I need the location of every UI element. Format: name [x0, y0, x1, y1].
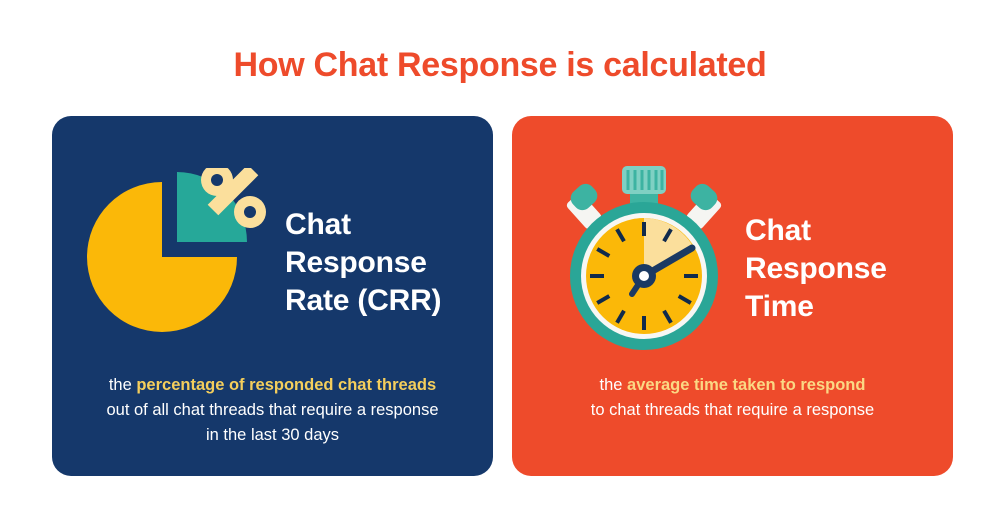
crr-caption-line-2: out of all chat threads that require a r…: [68, 398, 477, 423]
pie-chart-percent-icon-wrap: [74, 160, 274, 380]
pie-chart-percent-icon: [80, 168, 270, 348]
page-title: How Chat Response is calculated: [0, 46, 1000, 85]
crt-caption-line-2: to chat threads that require a response: [528, 398, 937, 423]
crr-heading: Chat Response Rate (CRR): [285, 206, 485, 320]
stopwatch-hub-dot: [639, 271, 649, 281]
infographic-canvas: How Chat Response is calculated: [0, 0, 1000, 530]
crr-caption: the percentage of responded chat threads…: [68, 373, 477, 448]
crt-caption: the average time taken to respond to cha…: [528, 373, 937, 423]
card-chat-response-rate: Chat Response Rate (CRR) the percentage …: [52, 116, 493, 476]
crt-caption-line-1: the average time taken to respond: [528, 373, 937, 398]
stopwatch-icon: [554, 160, 734, 355]
crt-caption-highlight: average time taken to respond: [627, 376, 865, 394]
crr-caption-line-3: in the last 30 days: [68, 423, 477, 448]
stopwatch-crown-icon: [622, 166, 666, 194]
crr-caption-lead: the: [109, 376, 137, 394]
crt-caption-lead: the: [600, 376, 628, 394]
crt-heading: Chat Response Time: [745, 212, 945, 326]
crr-caption-highlight: percentage of responded chat threads: [136, 376, 436, 394]
stopwatch-icon-wrap: [554, 160, 754, 380]
card-chat-response-time: Chat Response Time the average time take…: [512, 116, 953, 476]
crr-caption-line-1: the percentage of responded chat threads: [68, 373, 477, 398]
crt-icon-heading-row: Chat Response Time: [512, 160, 953, 390]
crr-icon-heading-row: Chat Response Rate (CRR): [52, 160, 493, 390]
